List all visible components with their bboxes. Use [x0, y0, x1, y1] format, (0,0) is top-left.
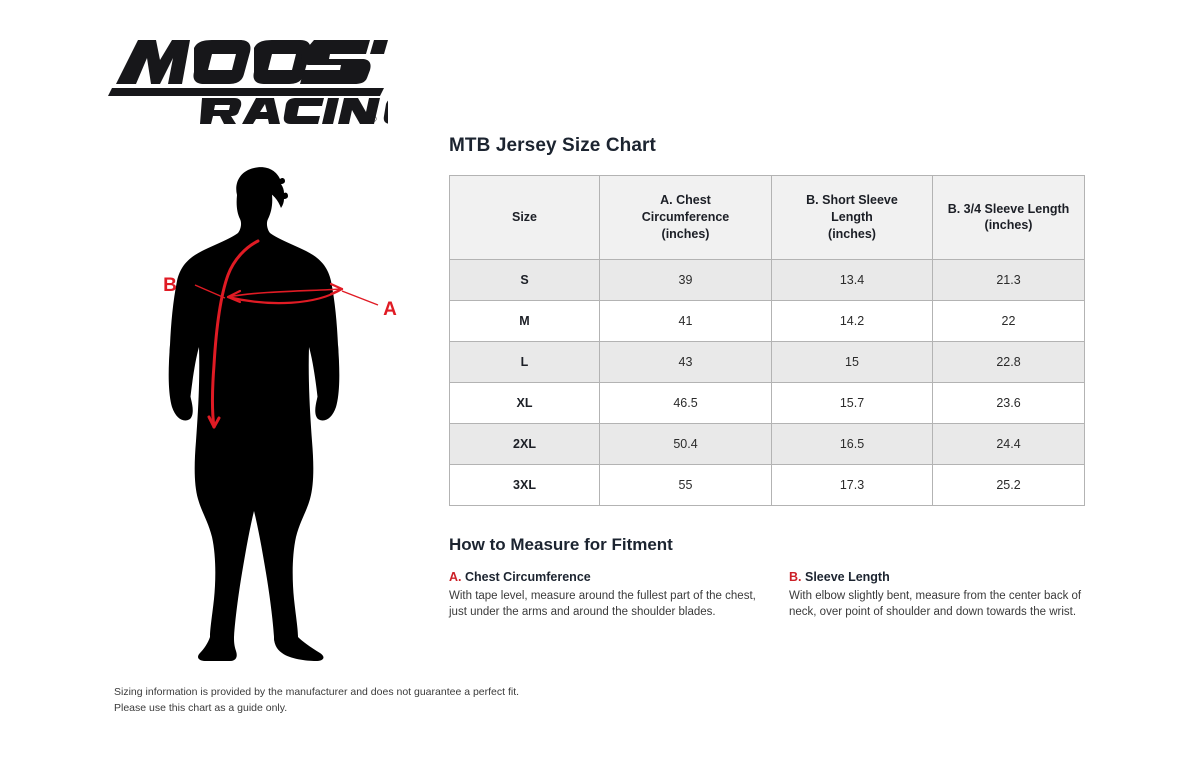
moose-racing-logo-svg: ®	[108, 26, 388, 126]
column-header-short-sleeve: B. Short Sleeve Length (inches)	[772, 175, 933, 259]
cell-chest: 39	[600, 259, 772, 300]
cell-chest: 46.5	[600, 382, 772, 423]
disclaimer-line1: Sizing information is provided by the ma…	[114, 686, 519, 698]
measure-item-sleeve-body: With elbow slightly bent, measure from t…	[789, 588, 1089, 621]
header-size-text: Size	[512, 210, 537, 224]
header-chest-line1: A. Chest	[660, 193, 711, 207]
header-short-line3: (inches)	[828, 227, 876, 241]
table-row: XL46.515.723.6	[450, 382, 1085, 423]
cell-short-sleeve: 15.7	[772, 382, 933, 423]
table-row: L431522.8	[450, 341, 1085, 382]
a-leader-line	[342, 291, 378, 305]
cell-three-quarter: 25.2	[933, 464, 1085, 505]
cell-short-sleeve: 15	[772, 341, 933, 382]
cell-size: 3XL	[450, 464, 600, 505]
cell-three-quarter: 21.3	[933, 259, 1085, 300]
measure-a-line1: With tape level, measure around the full…	[449, 590, 756, 602]
column-header-size: Size	[450, 175, 600, 259]
measure-b-line2: neck, over point of shoulder and down to…	[789, 606, 1076, 618]
cell-short-sleeve: 17.3	[772, 464, 933, 505]
cell-chest: 43	[600, 341, 772, 382]
cell-size: S	[450, 259, 600, 300]
cell-size: XL	[450, 382, 600, 423]
measure-letter-a: A.	[449, 570, 462, 584]
measure-item-sleeve-title: B. Sleeve Length	[789, 569, 1089, 585]
content-column: MTB Jersey Size Chart Size A. Chest Circ…	[449, 136, 1089, 620]
measure-b-line1: With elbow slightly bent, measure from t…	[789, 590, 1081, 602]
column-header-chest: A. Chest Circumference (inches)	[600, 175, 772, 259]
measure-title-a: Chest Circumference	[465, 570, 591, 584]
size-table-body: S3913.421.3M4114.222L431522.8XL46.515.72…	[450, 259, 1085, 505]
cell-chest: 41	[600, 300, 772, 341]
table-row: M4114.222	[450, 300, 1085, 341]
table-header-row: Size A. Chest Circumference (inches) B. …	[450, 175, 1085, 259]
header-chest-line2: Circumference	[642, 210, 730, 224]
measure-a-line2: just under the arms and around the shoul…	[449, 606, 716, 618]
cell-size: L	[450, 341, 600, 382]
disclaimer: Sizing information is provided by the ma…	[114, 684, 519, 717]
cell-three-quarter: 23.6	[933, 382, 1085, 423]
disclaimer-line2: Please use this chart as a guide only.	[114, 702, 287, 714]
header-short-line1: B. Short Sleeve	[806, 193, 898, 207]
header-three-line2: (inches)	[985, 218, 1033, 232]
registered-trademark-symbol: ®	[370, 114, 377, 124]
figure-svg: B A	[110, 155, 440, 665]
how-to-measure-heading: How to Measure for Fitment	[449, 536, 1089, 555]
header-chest-line3: (inches)	[662, 227, 710, 241]
cell-short-sleeve: 13.4	[772, 259, 933, 300]
column-header-three-quarter-sleeve: B. 3/4 Sleeve Length (inches)	[933, 175, 1085, 259]
label-b: B	[163, 275, 177, 296]
header-three-line1: B. 3/4 Sleeve Length	[948, 202, 1070, 216]
body-silhouette	[169, 167, 340, 661]
table-row: 2XL50.416.524.4	[450, 423, 1085, 464]
table-row: S3913.421.3	[450, 259, 1085, 300]
measure-item-sleeve: B. Sleeve Length With elbow slightly ben…	[789, 569, 1089, 621]
cell-short-sleeve: 14.2	[772, 300, 933, 341]
table-row: 3XL5517.325.2	[450, 464, 1085, 505]
cell-short-sleeve: 16.5	[772, 423, 933, 464]
measure-item-chest-title: A. Chest Circumference	[449, 569, 789, 585]
measure-item-chest: A. Chest Circumference With tape level, …	[449, 569, 789, 621]
measure-title-b: Sleeve Length	[805, 570, 890, 584]
page-title: MTB Jersey Size Chart	[449, 136, 1089, 157]
label-a: A	[383, 299, 397, 320]
cell-three-quarter: 22	[933, 300, 1085, 341]
cell-three-quarter: 24.4	[933, 423, 1085, 464]
cell-size: 2XL	[450, 423, 600, 464]
brand-logo: ®	[108, 26, 388, 126]
measurement-figure: B A	[110, 155, 440, 665]
cell-three-quarter: 22.8	[933, 341, 1085, 382]
measure-columns: A. Chest Circumference With tape level, …	[449, 569, 1089, 621]
cell-size: M	[450, 300, 600, 341]
measure-letter-b: B.	[789, 570, 802, 584]
header-short-line2: Length	[831, 210, 873, 224]
cell-chest: 50.4	[600, 423, 772, 464]
measure-item-chest-body: With tape level, measure around the full…	[449, 588, 789, 621]
cell-chest: 55	[600, 464, 772, 505]
size-chart-table: Size A. Chest Circumference (inches) B. …	[449, 175, 1085, 506]
